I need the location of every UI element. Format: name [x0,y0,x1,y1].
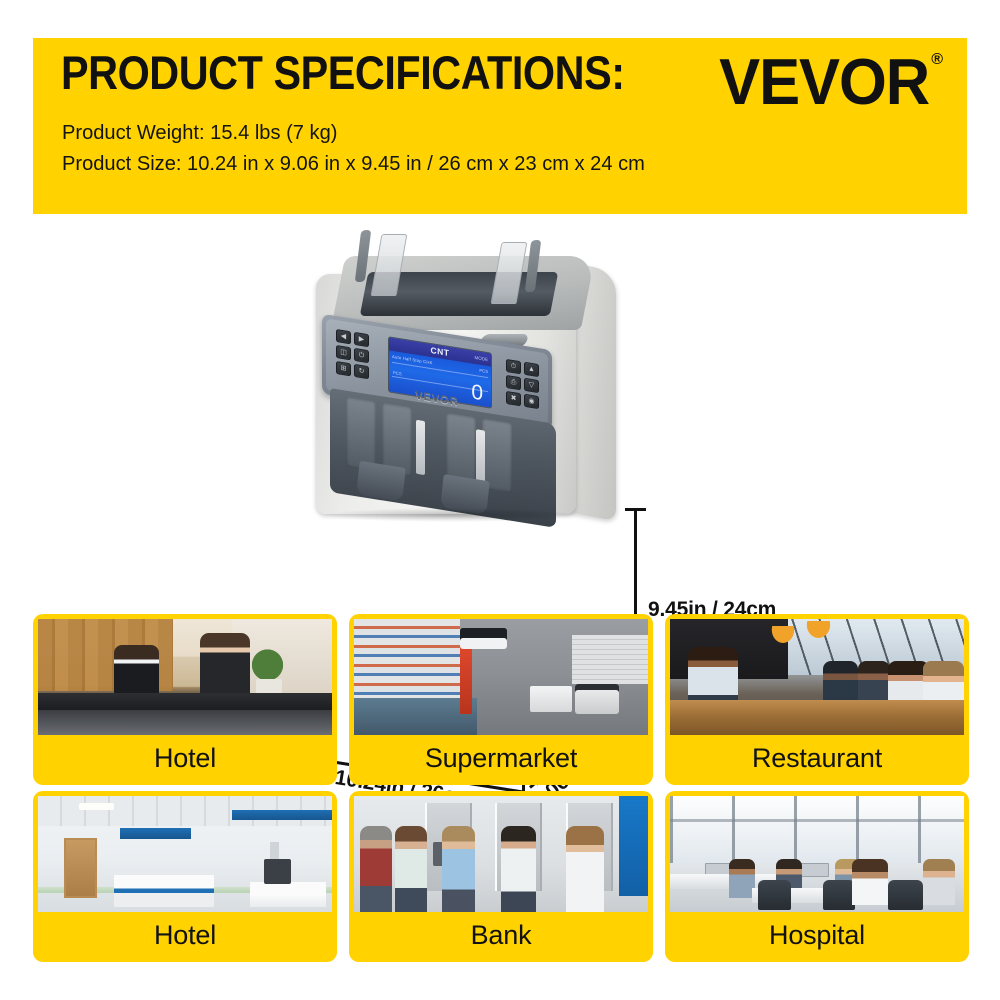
stacker-plate [416,420,425,475]
page-title: PRODUCT SPECIFICATIONS: [61,48,625,97]
drop-shadow [326,508,576,522]
print-icon[interactable]: ⎙ [506,375,521,390]
height-cap-top [625,508,646,511]
scenario-label: Hotel [38,735,332,785]
power-icon[interactable]: ⏻ [354,348,369,363]
vevor-logo-text: VEVOR [719,50,929,115]
scenario-photo [670,796,964,912]
scenario-label: Supermarket [354,735,648,785]
scenario-label: Restaurant [670,735,964,785]
keypad-right[interactable]: ⏱ ▲ ⎙ ▽ ✖ ◉ [506,359,539,409]
arrow-right-icon[interactable]: ▶ [354,332,369,347]
keypad-left[interactable]: ◀ ▶ ◫ ⏻ ⊞ ↻ [336,329,369,379]
clock-icon[interactable]: ⏱ [506,359,521,374]
spec-product-size: Product Size: 10.24 in x 9.06 in x 9.45 … [62,148,905,179]
scenario-photo [354,619,648,735]
report-icon[interactable]: ◫ [336,345,351,360]
product-showcase: ◀ ▶ ◫ ⏻ ⊞ ↻ CNT MODE Auto Half Sto [0,214,1000,604]
vevor-logo: VEVOR ® [731,50,943,112]
product-specification-page: PRODUCT SPECIFICATIONS: VEVOR ® Product … [0,0,1000,1000]
spec-product-weight: Product Weight: 15.4 lbs (7 kg) [62,117,905,148]
stacker-lip [356,461,406,502]
scenario-photo [670,619,964,735]
scenario-photo [354,796,648,912]
scenario-card-supermarket: Supermarket [349,614,653,785]
scenario-label: Hospital [670,912,964,962]
refresh-icon[interactable]: ↻ [354,364,369,379]
scenario-card-office: Hospital [665,791,969,962]
scenario-card-clinic: Hotel [33,791,337,962]
stacker-plate [476,429,485,484]
scenario-label: Hotel [38,912,332,962]
scenario-card-restaurant: Restaurant [665,614,969,785]
add-icon[interactable]: ⊞ [336,361,351,376]
funnel-icon[interactable]: ▽ [524,378,539,393]
application-scenarios-grid: Hotel Supermarket [33,614,969,962]
arrow-left-icon[interactable]: ◀ [336,329,351,344]
scenario-photo [38,796,332,912]
lcd-unit-label: PCS [479,367,488,376]
spec-list: Product Weight: 15.4 lbs (7 kg) Product … [62,117,922,179]
up-arrow-icon[interactable]: ▲ [524,362,539,377]
scenario-label: Bank [354,912,648,962]
money-counter-image: ◀ ▶ ◫ ⏻ ⊞ ↻ CNT MODE Auto Half Sto [300,228,640,548]
lcd-mode-tag: MODE [475,353,489,364]
header-band: PRODUCT SPECIFICATIONS: VEVOR ® Product … [33,38,967,214]
scenario-photo [38,619,332,735]
scenario-card-hotel-lobby: Hotel [33,614,337,785]
scenario-card-bank: Bank [349,791,653,962]
registered-trademark-icon: ® [931,52,943,68]
